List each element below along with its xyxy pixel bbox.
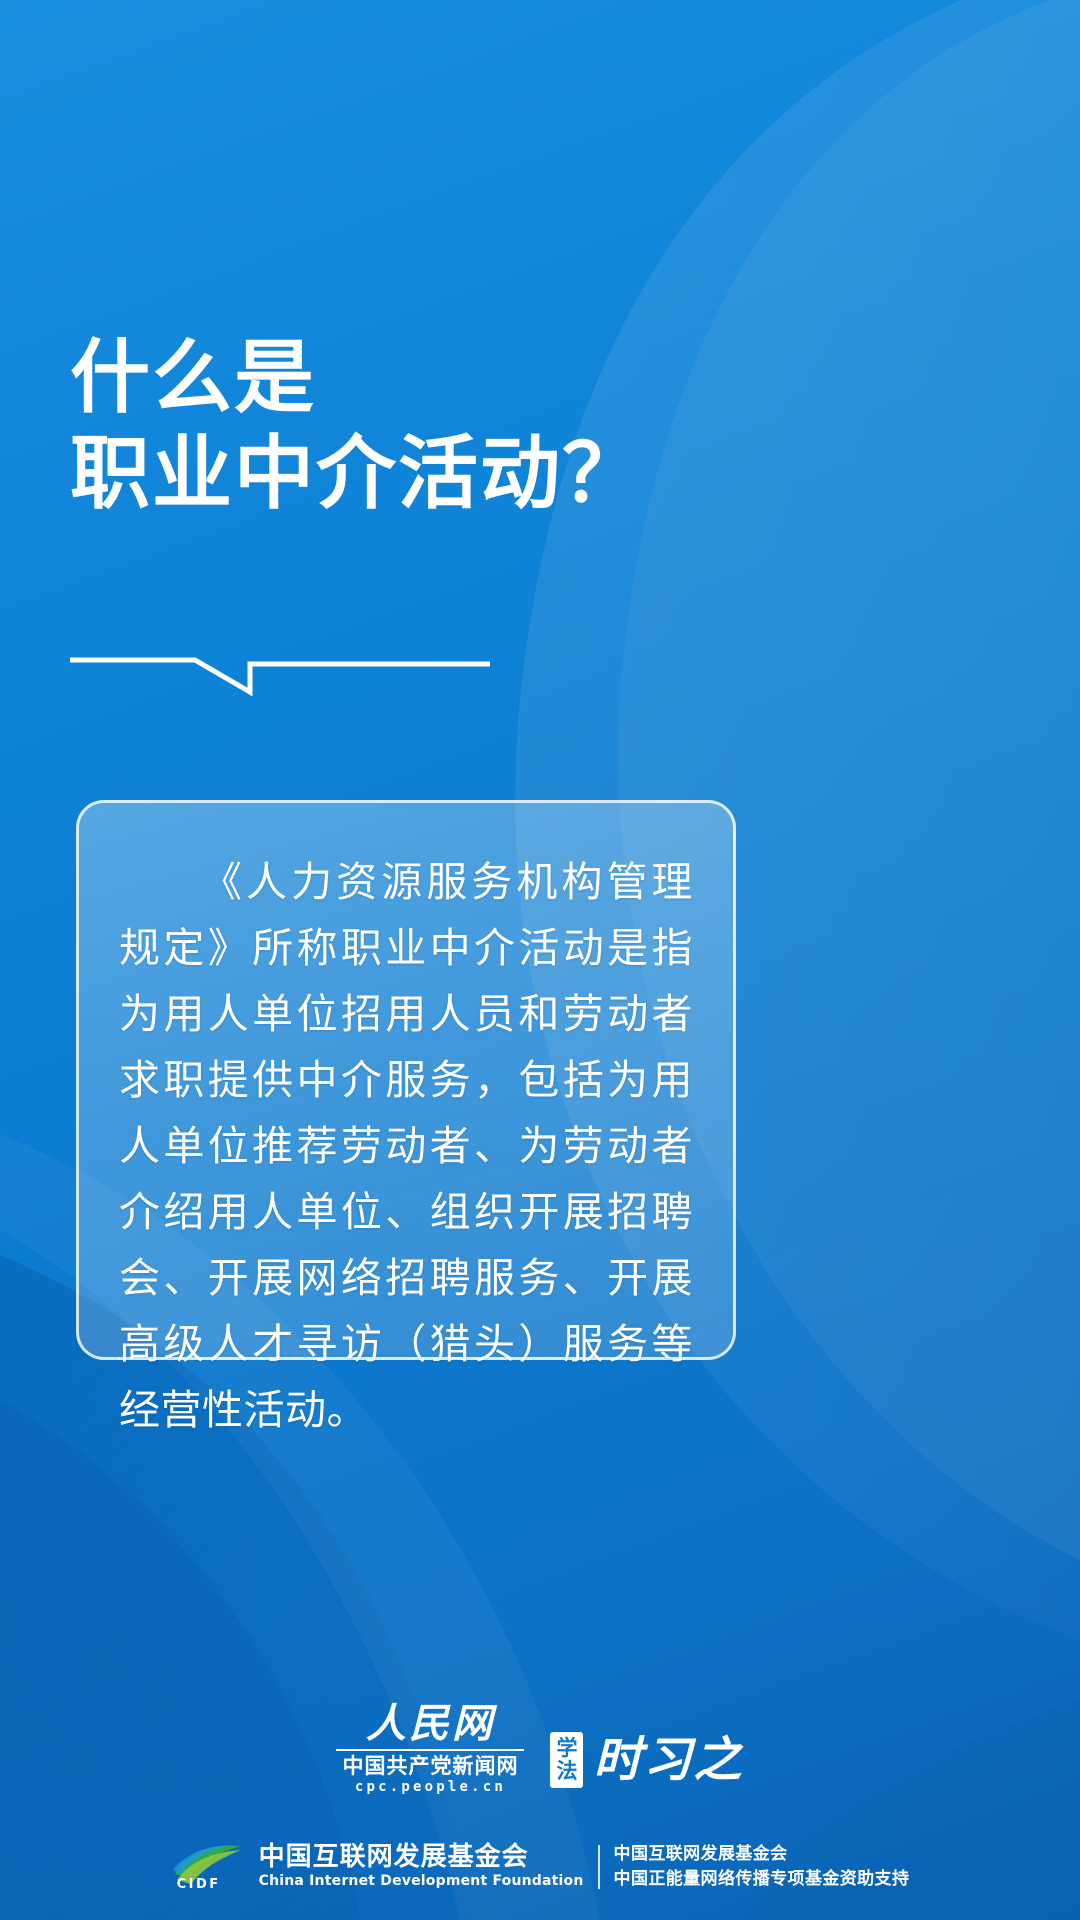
poster-canvas: 什么是 职业中介活动？ 《人力资源服务机构管理规定》所称职业中介活动是指为用人单…	[0, 0, 1080, 1920]
peoples-daily-subtitle: 中国共产党新闻网	[342, 1754, 518, 1778]
cidf-abbr: CIDF	[177, 1877, 221, 1892]
title-underline-notch	[70, 636, 490, 696]
peoples-daily-wordmark: 人民网	[366, 1702, 495, 1746]
cidf-support-line-1: 中国互联网发展基金会	[614, 1842, 910, 1867]
cidf-name-en: China Internet Development Foundation	[259, 1871, 584, 1891]
xuefa-shixizhi-logo: 学 法 时习之	[550, 1732, 743, 1796]
xuefa-badge-char-1: 学	[556, 1737, 577, 1760]
peoples-daily-url: cpc.people.cn	[355, 1778, 506, 1796]
xuefa-wordmark: 时习之	[593, 1735, 743, 1785]
xuefa-badge: 学 法	[550, 1732, 583, 1788]
cidf-name-cn: 中国互联网发展基金会	[259, 1843, 584, 1871]
cidf-swoosh-icon: CIDF	[171, 1844, 245, 1890]
footer: 人民网 中国共产党新闻网 cpc.people.cn 学 法 时习之	[0, 1700, 1080, 1892]
cidf-name-block: 中国互联网发展基金会 China Internet Development Fo…	[259, 1843, 584, 1891]
page-title: 什么是 职业中介活动？	[70, 330, 970, 522]
xuefa-badge-char-2: 法	[556, 1760, 577, 1783]
cidf-support-block: 中国互联网发展基金会 中国正能量网络传播专项基金资助支持	[614, 1842, 910, 1892]
peoples-daily-divider	[336, 1749, 524, 1751]
content-card-body: 《人力资源服务机构管理规定》所称职业中介活动是指为用人单位招用人员和劳动者求职提…	[119, 849, 693, 1443]
title-line-1: 什么是	[70, 330, 970, 426]
peoples-daily-logo: 人民网 中国共产党新闻网 cpc.people.cn	[336, 1702, 524, 1796]
footer-logo-row: 人民网 中国共产党新闻网 cpc.people.cn 学 法 时习之	[336, 1700, 743, 1796]
title-line-2: 职业中介活动？	[70, 426, 970, 522]
cidf-support-line-2: 中国正能量网络传播专项基金资助支持	[614, 1867, 910, 1892]
cidf-footer: CIDF 中国互联网发展基金会 China Internet Developme…	[171, 1842, 910, 1892]
cidf-divider	[598, 1845, 600, 1889]
content-card: 《人力资源服务机构管理规定》所称职业中介活动是指为用人单位招用人员和劳动者求职提…	[76, 800, 736, 1360]
